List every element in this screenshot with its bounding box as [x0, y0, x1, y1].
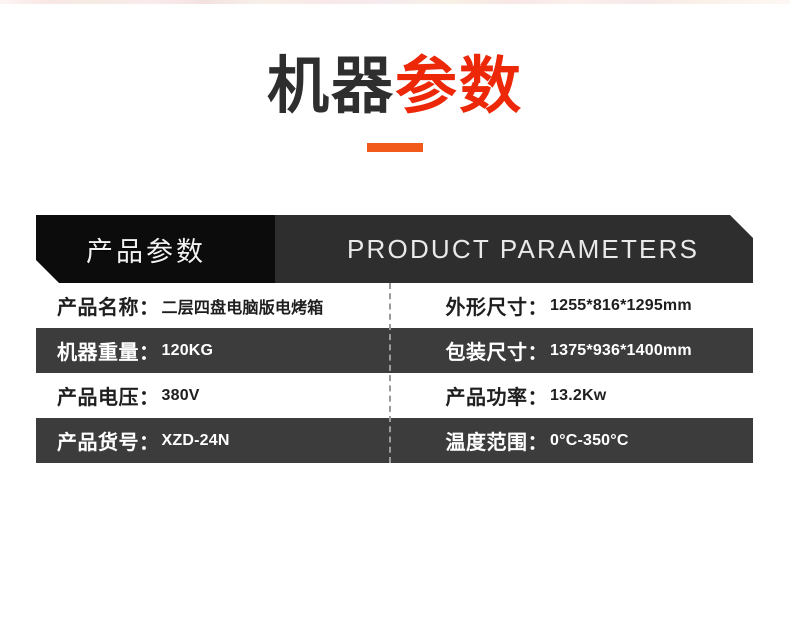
spec-label: 包装尺寸：	[446, 336, 549, 365]
spec-label: 产品电压：	[57, 381, 160, 410]
banner-cn-panel: 产品参数	[36, 215, 275, 283]
table-row: 产品货号： XZD-24N 温度范围： 0°C-350°C	[36, 418, 753, 463]
spec-cell-right: 包装尺寸： 1375*936*1400mm	[395, 328, 754, 373]
spec-cell-right: 产品功率： 13.2Kw	[395, 373, 754, 418]
table-row: 产品名称： 二层四盘电脑版电烤箱 外形尺寸： 1255*816*1295mm	[36, 283, 753, 328]
banner-cn-label: 产品参数	[86, 230, 206, 269]
spec-label: 产品货号：	[57, 426, 160, 455]
spec-cell-left: 机器重量： 120KG	[36, 328, 395, 373]
spec-cell-right: 外形尺寸： 1255*816*1295mm	[395, 283, 754, 328]
spec-label: 温度范围：	[446, 426, 549, 455]
title-underline-rule	[367, 143, 423, 152]
page-title-primary: 机器	[267, 52, 395, 121]
spec-value: 1375*936*1400mm	[550, 342, 692, 360]
spec-value: 二层四盘电脑版电烤箱	[162, 294, 324, 318]
spec-cell-right: 温度范围： 0°C-350°C	[395, 418, 754, 463]
specification-table: 产品名称： 二层四盘电脑版电烤箱 外形尺寸： 1255*816*1295mm 机…	[36, 283, 753, 463]
spec-label: 外形尺寸：	[446, 291, 549, 320]
top-color-strip	[0, 0, 790, 4]
spec-value: 13.2Kw	[550, 387, 606, 405]
spec-cell-left: 产品名称： 二层四盘电脑版电烤箱	[36, 283, 395, 328]
spec-cell-left: 产品货号： XZD-24N	[36, 418, 395, 463]
spec-value: 380V	[162, 387, 200, 405]
banner-en-label: PRODUCT PARAMETERS	[347, 234, 699, 265]
section-banner: 产品参数 PRODUCT PARAMETERS	[36, 215, 753, 283]
spec-value: 120KG	[162, 342, 214, 360]
banner-en-panel: PRODUCT PARAMETERS	[275, 215, 753, 283]
page-title: 机器参数	[0, 48, 790, 152]
table-row: 机器重量： 120KG 包装尺寸： 1375*936*1400mm	[36, 328, 753, 373]
table-row: 产品电压： 380V 产品功率： 13.2Kw	[36, 373, 753, 418]
page-title-accent: 参数	[395, 52, 523, 121]
spec-value: 1255*816*1295mm	[550, 297, 692, 315]
spec-value: 0°C-350°C	[550, 432, 629, 450]
spec-label: 产品功率：	[446, 381, 549, 410]
spec-cell-left: 产品电压： 380V	[36, 373, 395, 418]
spec-label: 产品名称：	[57, 291, 160, 320]
spec-value: XZD-24N	[162, 432, 230, 450]
spec-label: 机器重量：	[57, 336, 160, 365]
page-title-text: 机器参数	[0, 48, 790, 126]
